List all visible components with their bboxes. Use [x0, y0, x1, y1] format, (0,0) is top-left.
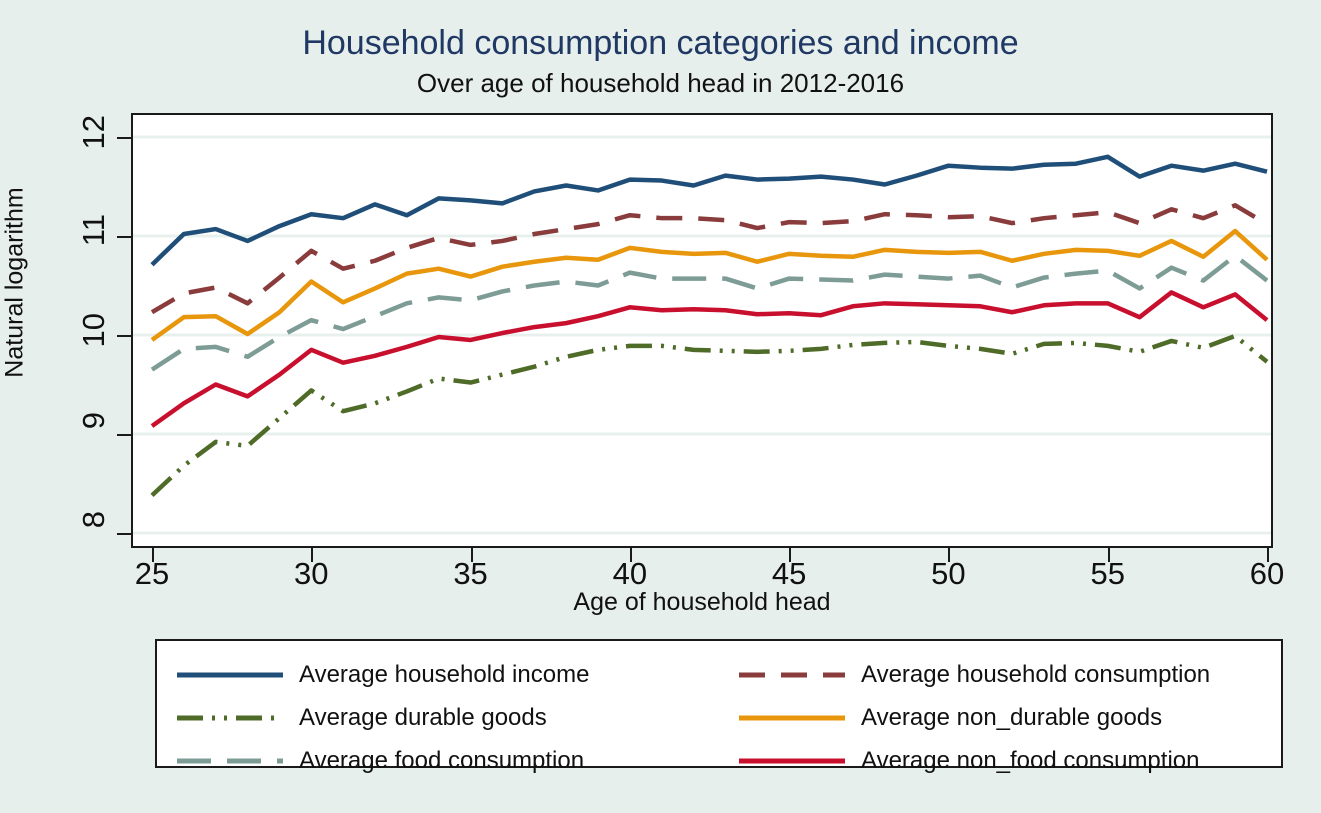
legend-item[interactable]: Average non_durable goods	[737, 696, 1162, 739]
x-tick-mark	[630, 548, 632, 562]
x-tick-mark	[1267, 548, 1269, 562]
x-tick-mark	[789, 548, 791, 562]
x-tick-mark	[1108, 548, 1110, 562]
legend-item[interactable]: Average non_food consumption	[737, 739, 1199, 782]
legend-swatch-line	[175, 665, 285, 685]
legend-label: Average non_food consumption	[861, 747, 1199, 775]
chart-legend: Average household incomeAverage househol…	[155, 639, 1283, 768]
x-axis-label: Age of household head	[131, 588, 1273, 617]
x-tick-mark	[152, 548, 154, 562]
legend-swatch-line	[175, 751, 285, 771]
legend-label: Average durable goods	[299, 704, 547, 732]
chart-canvas: Household consumption categories and inc…	[0, 0, 1321, 813]
legend-item[interactable]: Average food consumption	[175, 739, 584, 782]
legend-swatch-line	[737, 708, 847, 728]
x-tick-mark	[948, 548, 950, 562]
legend-item[interactable]: Average durable goods	[175, 696, 547, 739]
legend-label: Average food consumption	[299, 747, 584, 775]
legend-item[interactable]: Average household income	[175, 653, 589, 696]
legend-swatch-line	[737, 665, 847, 685]
legend-label: Average household income	[299, 661, 589, 689]
legend-label: Average non_durable goods	[861, 704, 1162, 732]
legend-label: Average household consumption	[861, 661, 1210, 689]
x-tick-mark	[311, 548, 313, 562]
legend-swatch-line	[175, 708, 285, 728]
legend-item[interactable]: Average household consumption	[737, 653, 1210, 696]
legend-swatch-line	[737, 751, 847, 771]
x-tick-mark	[471, 548, 473, 562]
